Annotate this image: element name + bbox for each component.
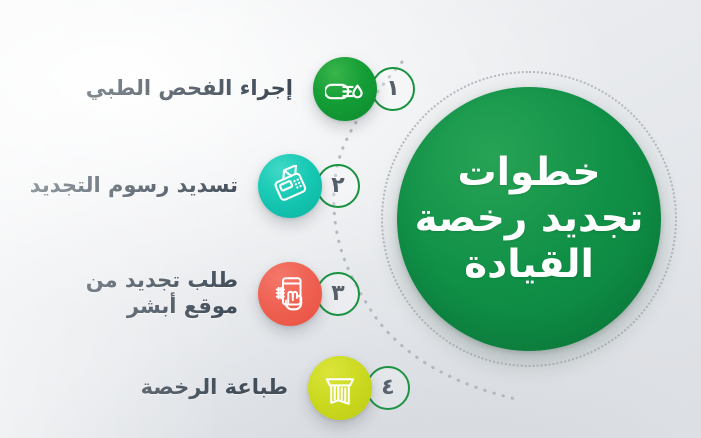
step-label-3-line-2: موقع أبشر [86,294,238,320]
card-payment-terminal-icon [258,154,322,218]
step-item-3[interactable]: ٣ طلب تجديد من موقع أبشر [86,262,360,326]
step-label-2: تسديد رسوم التجديد [30,173,238,199]
hub-title-line-1: خطوات [415,150,644,196]
step-number-badge-3: ٣ [316,272,360,316]
hub-disc: خطوات تجديد رخصة القيادة [397,87,661,351]
step-label-2-line-1: تسديد رسوم التجديد [30,173,238,199]
hand-touch-smartphone-icon [258,262,322,326]
step-number-badge-1: ١ [371,67,415,111]
step-number-badge-2: ٢ [316,164,360,208]
step-item-4[interactable]: ٤ طباعة الرخصة [141,356,410,420]
step-label-1: إجراء الفحص الطبي [86,76,293,102]
infographic-canvas: خطوات تجديد رخصة القيادة ١ إجراء الفحص ا… [0,0,701,438]
hub-title-line-3: القيادة [415,242,644,288]
step-label-4: طباعة الرخصة [141,375,288,401]
hub-title: خطوات تجديد رخصة القيادة [407,150,652,288]
atm-card-dispenser-icon [308,356,372,420]
hub-title-line-2: تجديد رخصة [415,196,644,242]
hub-circle: خطوات تجديد رخصة القيادة [381,71,677,367]
step-label-1-line-1: إجراء الفحص الطبي [86,76,293,102]
step-label-4-line-1: طباعة الرخصة [141,375,288,401]
step-label-3: طلب تجديد من موقع أبشر [86,268,238,319]
finger-blood-drop-icon [313,57,377,121]
step-item-1[interactable]: ١ إجراء الفحص الطبي [86,57,415,121]
step-label-3-line-1: طلب تجديد من [86,268,238,294]
step-item-2[interactable]: ٢ تسديد رسوم التجديد [30,154,360,218]
step-number-badge-4: ٤ [366,366,410,410]
